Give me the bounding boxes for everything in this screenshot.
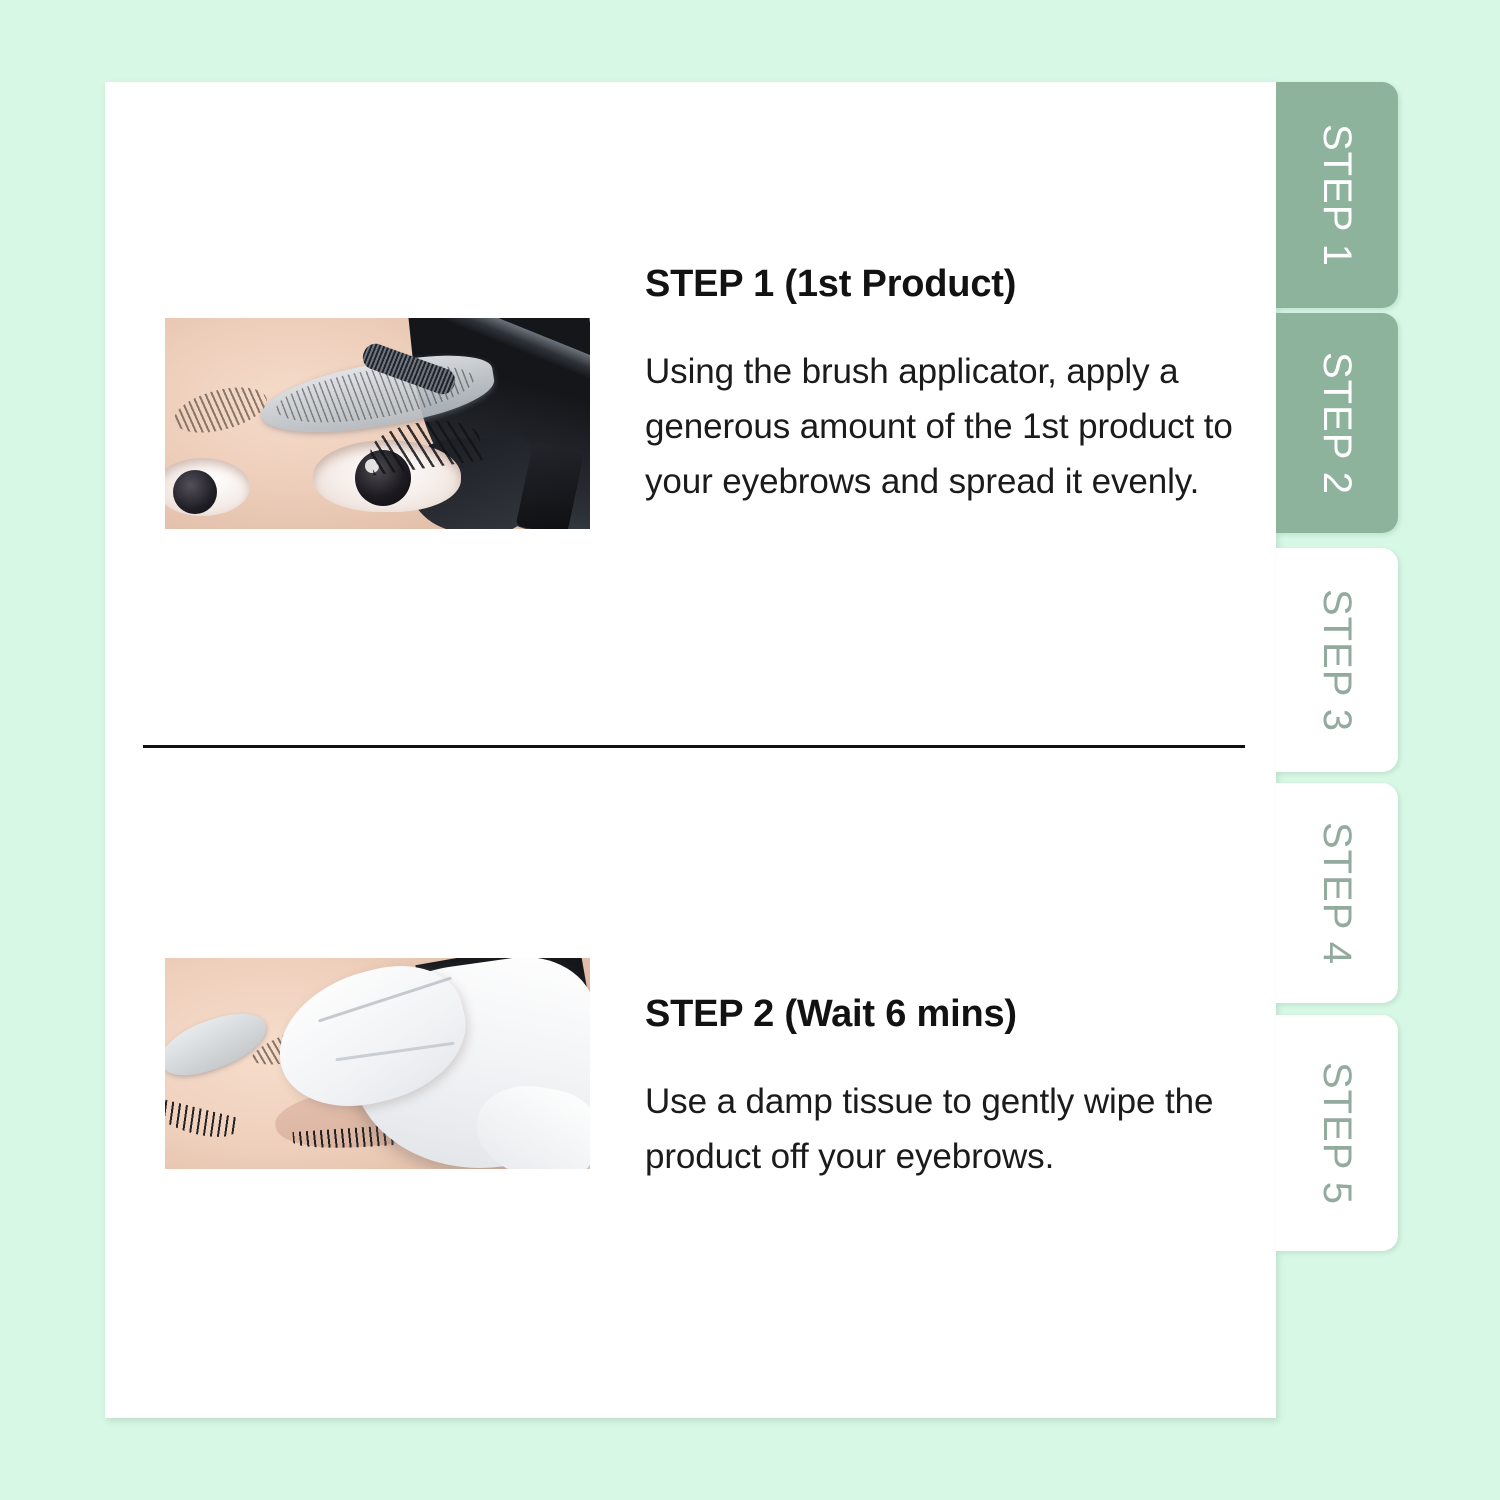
tab-step-3-label: STEP 3 bbox=[1315, 588, 1360, 731]
step-1-body: Using the brush applicator, apply a gene… bbox=[645, 344, 1255, 510]
tab-step-4-label: STEP 4 bbox=[1315, 821, 1360, 964]
step-2-text-column: STEP 2 (Wait 6 mins) Use a damp tissue t… bbox=[645, 994, 1255, 1184]
step-tab-strip: STEP 1 STEP 2 STEP 3 STEP 4 STEP 5 bbox=[1276, 82, 1398, 1262]
step-2-title: STEP 2 (Wait 6 mins) bbox=[645, 994, 1255, 1036]
instruction-card: STEP 1 (1st Product) Using the brush app… bbox=[105, 82, 1276, 1418]
tab-step-1-label: STEP 1 bbox=[1315, 123, 1360, 266]
step-1-title: STEP 1 (1st Product) bbox=[645, 264, 1255, 306]
tab-step-2-label: STEP 2 bbox=[1315, 351, 1360, 494]
tab-step-5-label: STEP 5 bbox=[1315, 1061, 1360, 1204]
brow-brush-photo bbox=[165, 318, 590, 529]
step-2-body: Use a damp tissue to gently wipe the pro… bbox=[645, 1074, 1255, 1185]
tab-step-2[interactable]: STEP 2 bbox=[1276, 313, 1398, 533]
section-divider bbox=[143, 745, 1245, 748]
step-row-2: STEP 2 (Wait 6 mins) Use a damp tissue t… bbox=[105, 904, 1276, 1324]
step-2-image bbox=[165, 958, 590, 1169]
tab-step-5[interactable]: STEP 5 bbox=[1276, 1015, 1398, 1251]
step-row-1: STEP 1 (1st Product) Using the brush app… bbox=[105, 264, 1276, 684]
step-1-text-column: STEP 1 (1st Product) Using the brush app… bbox=[645, 264, 1255, 510]
tissue-wipe-photo bbox=[165, 958, 590, 1169]
step-1-image bbox=[165, 318, 590, 529]
tab-step-3[interactable]: STEP 3 bbox=[1276, 548, 1398, 772]
tab-step-1[interactable]: STEP 1 bbox=[1276, 82, 1398, 308]
page-root: STEP 1 (1st Product) Using the brush app… bbox=[0, 0, 1500, 1500]
tab-step-4[interactable]: STEP 4 bbox=[1276, 783, 1398, 1003]
